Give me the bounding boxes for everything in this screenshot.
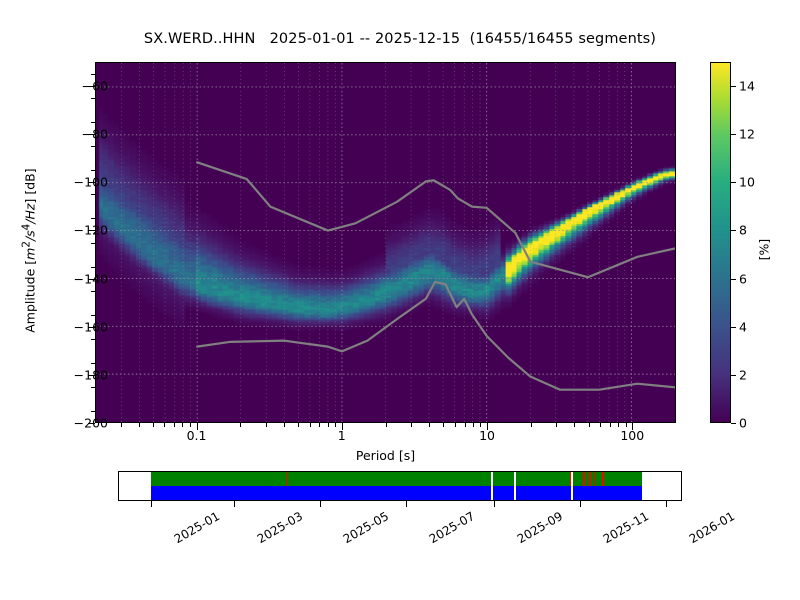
x-axis-tick-minor: [174, 423, 175, 427]
timeline-bars: [119, 472, 681, 500]
x-axis-tick-minor: [319, 423, 320, 427]
x-axis-tick-minor: [164, 423, 165, 427]
colorbar-tick-label: 14: [739, 79, 755, 94]
x-axis-tick-label: 100: [620, 428, 644, 443]
timeline-marker: [570, 472, 572, 486]
x-axis-label: Period [s]: [95, 448, 676, 463]
y-axis-tick-label: −80: [82, 127, 108, 142]
y-axis-tick-minor: [91, 74, 95, 75]
y-axis-tick-minor: [91, 170, 95, 171]
colorbar-tick-label: 10: [739, 175, 755, 190]
colorbar-tick: [731, 134, 736, 135]
y-axis-tick-minor: [91, 122, 95, 123]
timeline-data-band: [151, 486, 641, 500]
y-axis-tick-minor: [91, 363, 95, 364]
y-axis-tick-label: −200: [74, 416, 108, 431]
timeline-gap: [514, 472, 516, 500]
y-axis-tick-label: −140: [74, 271, 108, 286]
data-coverage-timeline[interactable]: [118, 471, 682, 501]
ppsd-figure: SX.WERD..HHN 2025-01-01 -- 2025-12-15 (1…: [0, 0, 800, 600]
y-axis-tick-minor: [91, 411, 95, 412]
colorbar-tick-label: 0: [739, 416, 747, 431]
x-axis-tick-minor: [139, 423, 140, 427]
timeline-tick: [151, 501, 152, 507]
y-axis-tick-minor: [91, 243, 95, 244]
colorbar-tick: [731, 86, 736, 87]
y-axis-tick-minor: [91, 146, 95, 147]
y-axis-tick-label: −160: [74, 319, 108, 334]
timeline-tick: [494, 501, 495, 507]
x-axis-tick-minor: [480, 423, 481, 427]
colorbar-tick: [731, 327, 736, 328]
x-axis-tick-minor: [240, 423, 241, 427]
x-axis-tick-minor: [626, 423, 627, 427]
x-axis-tick-minor: [284, 423, 285, 427]
timeline-tick: [666, 501, 667, 507]
timeline-tick: [406, 501, 407, 507]
x-axis-tick-minor: [589, 423, 590, 427]
colorbar-tick-label: 6: [739, 271, 747, 286]
y-axis-label: Amplitude [m2/s4/Hz] [dB]: [20, 91, 37, 411]
y-axis-tick-minor: [91, 291, 95, 292]
timeline-date-label: 2025-11: [601, 509, 651, 546]
x-axis-tick-minor: [182, 423, 183, 427]
timeline-marker: [602, 472, 604, 486]
y-axis-tick-label: −60: [82, 79, 108, 94]
timeline-gap: [491, 472, 494, 500]
timeline-date-label: 2025-07: [427, 509, 477, 546]
timeline-tick: [234, 501, 235, 507]
y-axis-tick-minor: [91, 315, 95, 316]
x-axis-tick-minor: [473, 423, 474, 427]
x-axis-tick-minor: [618, 423, 619, 427]
x-axis-tick-minor: [556, 423, 557, 427]
y-axis-tick-minor: [91, 339, 95, 340]
x-axis-tick-minor: [443, 423, 444, 427]
colorbar-tick-label: 12: [739, 127, 755, 142]
colorbar-tick-label: 2: [739, 367, 747, 382]
x-axis-tick-minor: [411, 423, 412, 427]
colorbar-tick: [731, 182, 736, 183]
timeline-date-label: 2026-01: [687, 509, 737, 546]
x-axis-tick-minor: [455, 423, 456, 427]
timeline-tick: [580, 501, 581, 507]
x-axis-tick-label: 1: [338, 428, 346, 443]
x-axis-tick-minor: [386, 423, 387, 427]
x-axis-tick-minor: [600, 423, 601, 427]
colorbar-tick: [731, 230, 736, 231]
y-axis-tick-label: −120: [74, 223, 108, 238]
x-axis-tick-minor: [531, 423, 532, 427]
colorbar-tick: [731, 375, 736, 376]
x-axis-tick-minor: [429, 423, 430, 427]
timeline-tick: [320, 501, 321, 507]
timeline-marker: [287, 472, 289, 486]
y-axis-tick-minor: [91, 387, 95, 388]
colorbar-tick: [731, 423, 736, 424]
x-axis-tick-minor: [465, 423, 466, 427]
x-axis-tick-minor: [310, 423, 311, 427]
ppsd-histogram-axes[interactable]: [95, 62, 676, 423]
y-axis-tick-minor: [91, 267, 95, 268]
x-axis-tick-label: 10: [479, 428, 495, 443]
timeline-coverage-band: [151, 472, 641, 486]
noise-model-curves: [96, 63, 675, 422]
x-axis-tick-label: 0.1: [187, 428, 207, 443]
x-axis-tick-minor: [153, 423, 154, 427]
colorbar: [710, 62, 731, 423]
x-axis-tick-minor: [121, 423, 122, 427]
x-axis-tick-minor: [266, 423, 267, 427]
y-axis-tick-minor: [91, 98, 95, 99]
colorbar-tick-label: 4: [739, 319, 747, 334]
colorbar-tick-label: 8: [739, 223, 747, 238]
timeline-date-label: 2025-01: [171, 509, 221, 546]
colorbar-label: [%]: [757, 210, 772, 290]
x-axis-tick-minor: [335, 423, 336, 427]
timeline-marker: [595, 472, 596, 486]
timeline-date-label: 2025-09: [515, 509, 565, 546]
colorbar-tick: [731, 279, 736, 280]
y-axis-tick-minor: [91, 218, 95, 219]
x-axis-tick-minor: [328, 423, 329, 427]
page-title: SX.WERD..HHN 2025-01-01 -- 2025-12-15 (1…: [0, 31, 800, 47]
timeline-marker: [589, 472, 590, 486]
timeline-date-label: 2025-03: [255, 509, 305, 546]
y-axis-tick-label: −180: [74, 367, 108, 382]
x-axis-tick-minor: [190, 423, 191, 427]
timeline-marker: [583, 472, 584, 486]
y-axis-tick-label: −100: [74, 175, 108, 190]
x-axis-tick-minor: [610, 423, 611, 427]
y-axis-tick-minor: [91, 194, 95, 195]
x-axis-tick-minor: [574, 423, 575, 427]
timeline-date-label: 2025-05: [341, 509, 391, 546]
x-axis-tick-minor: [298, 423, 299, 427]
